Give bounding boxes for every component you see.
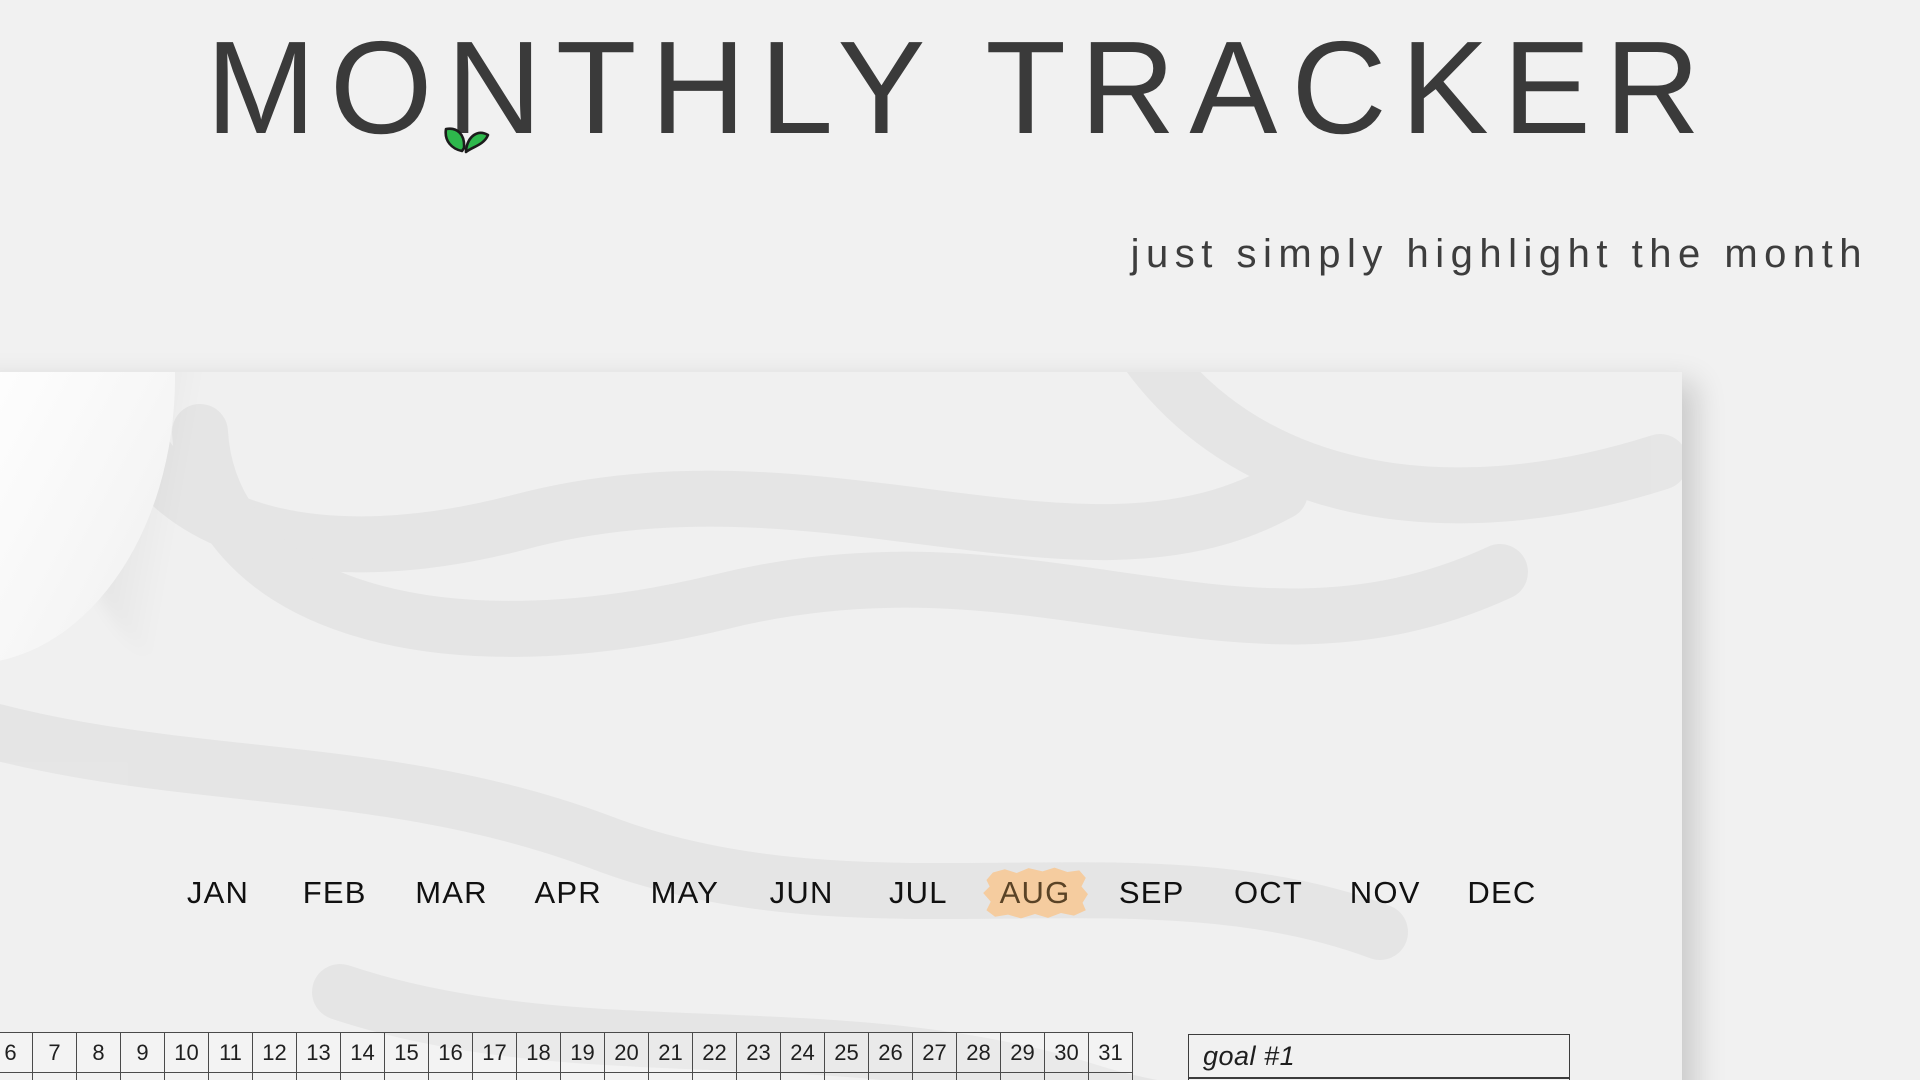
- month-label: DEC: [1467, 875, 1536, 911]
- page-corner-curl: [0, 372, 184, 666]
- day-number-cell: 14: [341, 1033, 385, 1073]
- day-number-cell: 13: [297, 1033, 341, 1073]
- grid-cell[interactable]: [429, 1073, 473, 1080]
- grid-cell[interactable]: [77, 1073, 121, 1080]
- page-corner-fold: [0, 372, 175, 664]
- grid-cell[interactable]: [0, 1073, 33, 1080]
- grid-cell[interactable]: [561, 1073, 605, 1080]
- month-item-jan[interactable]: JAN: [160, 862, 276, 924]
- month-item-sep[interactable]: SEP: [1094, 862, 1210, 924]
- goal-label: goal #1: [1189, 1035, 1569, 1079]
- grid-cell[interactable]: [605, 1073, 649, 1080]
- month-label: MAY: [651, 875, 719, 911]
- month-label: SEP: [1119, 875, 1185, 911]
- grid-cell[interactable]: [473, 1073, 517, 1080]
- grid-cell[interactable]: [385, 1073, 429, 1080]
- grid-cell[interactable]: [693, 1073, 737, 1080]
- day-number-cell: 19: [561, 1033, 605, 1073]
- day-number-cell: 10: [165, 1033, 209, 1073]
- month-item-dec[interactable]: DEC: [1444, 862, 1560, 924]
- day-number-cell: 23: [737, 1033, 781, 1073]
- grid-cell[interactable]: [737, 1073, 781, 1080]
- grid-cell[interactable]: [165, 1073, 209, 1080]
- month-item-oct[interactable]: OCT: [1210, 862, 1326, 924]
- grid-cell[interactable]: [341, 1073, 385, 1080]
- month-item-jul[interactable]: JUL: [860, 862, 976, 924]
- grid-cell[interactable]: [121, 1073, 165, 1080]
- day-number-cell: 17: [473, 1033, 517, 1073]
- day-number-cell: 25: [825, 1033, 869, 1073]
- day-number-cell: 20: [605, 1033, 649, 1073]
- grid-cell[interactable]: [1045, 1073, 1089, 1080]
- day-number-cell: 29: [1001, 1033, 1045, 1073]
- grid-cell[interactable]: [1001, 1073, 1045, 1080]
- grid-cell[interactable]: [1089, 1073, 1133, 1080]
- month-label: JUN: [770, 875, 834, 911]
- day-number-cell: 28: [957, 1033, 1001, 1073]
- month-item-mar[interactable]: MAR: [393, 862, 509, 924]
- grid-cell[interactable]: [253, 1073, 297, 1080]
- month-item-nov[interactable]: NOV: [1327, 862, 1443, 924]
- day-number-cell: 8: [77, 1033, 121, 1073]
- grid-cell[interactable]: [33, 1073, 77, 1080]
- page-title: MONTHLY TRACKER: [0, 22, 1920, 154]
- grid-cell[interactable]: [781, 1073, 825, 1080]
- day-number-cell: 22: [693, 1033, 737, 1073]
- month-item-jun[interactable]: JUN: [744, 862, 860, 924]
- grid-cell[interactable]: [869, 1073, 913, 1080]
- grid-cell[interactable]: [825, 1073, 869, 1080]
- day-number-cell: 18: [517, 1033, 561, 1073]
- tracker-grid-top[interactable]: 5678910111213141516171819202122232425262…: [0, 1032, 1133, 1080]
- month-label: APR: [534, 875, 601, 911]
- grid-cell[interactable]: [649, 1073, 693, 1080]
- day-number-cell: 15: [385, 1033, 429, 1073]
- page-corner-shadow: [56, 372, 206, 682]
- grid-cell[interactable]: [209, 1073, 253, 1080]
- swirl-watermark: [0, 372, 1682, 1080]
- grid-cell[interactable]: [913, 1073, 957, 1080]
- day-number-cell: 12: [253, 1033, 297, 1073]
- month-selector[interactable]: JAN FEB MAR APR MAY JUN JUL AUG: [160, 862, 1560, 924]
- day-number-cell: 11: [209, 1033, 253, 1073]
- month-label: AUG: [1000, 875, 1071, 911]
- day-number-cell: 16: [429, 1033, 473, 1073]
- day-number-cell: 27: [913, 1033, 957, 1073]
- goal-box-1[interactable]: goal #1: [1188, 1034, 1570, 1080]
- grid-header-row: 5678910111213141516171819202122232425262…: [0, 1033, 1133, 1073]
- month-item-feb[interactable]: FEB: [277, 862, 393, 924]
- page-title-text: MONTHLY TRACKER: [206, 14, 1714, 161]
- month-item-may[interactable]: MAY: [627, 862, 743, 924]
- day-number-cell: 30: [1045, 1033, 1089, 1073]
- month-label: FEB: [303, 875, 367, 911]
- page-header: MONTHLY TRACKER just simply highlight th…: [0, 0, 1920, 372]
- day-number-cell: 7: [33, 1033, 77, 1073]
- month-label: JUL: [889, 875, 948, 911]
- grid-row: [0, 1073, 1133, 1080]
- month-label: NOV: [1350, 875, 1421, 911]
- grid-cell[interactable]: [297, 1073, 341, 1080]
- day-number-cell: 21: [649, 1033, 693, 1073]
- day-number-cell: 9: [121, 1033, 165, 1073]
- grid-cell[interactable]: [517, 1073, 561, 1080]
- month-label: MAR: [415, 875, 488, 911]
- day-number-cell: 31: [1089, 1033, 1133, 1073]
- month-label: JAN: [187, 875, 249, 911]
- page-subtitle: just simply highlight the month: [1131, 232, 1868, 277]
- month-label: OCT: [1234, 875, 1303, 911]
- tracker-sheet: 0 JAN FEB MAR APR MAY JUN JUL: [0, 372, 1682, 1080]
- day-number-cell: 24: [781, 1033, 825, 1073]
- month-item-apr[interactable]: APR: [510, 862, 626, 924]
- day-number-cell: 26: [869, 1033, 913, 1073]
- monthly-tracker-page: MONTHLY TRACKER just simply highlight th…: [0, 0, 1920, 1080]
- month-item-aug[interactable]: AUG: [977, 862, 1093, 924]
- grid-cell[interactable]: [957, 1073, 1001, 1080]
- day-number-cell: 6: [0, 1033, 33, 1073]
